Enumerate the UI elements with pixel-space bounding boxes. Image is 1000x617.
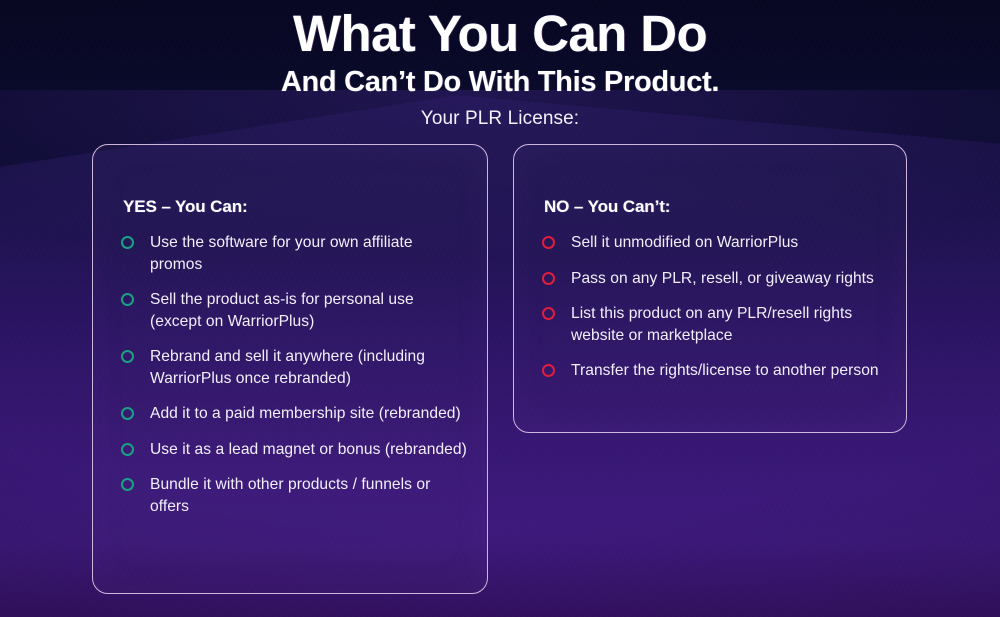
list-item-label: Add it to a paid membership site (rebran… — [150, 405, 461, 422]
list-item: Use it as a lead magnet or bonus (rebran… — [121, 439, 467, 461]
list-item-label: Pass on any PLR, resell, or giveaway rig… — [571, 270, 874, 287]
list-item-label: Sell the product as-is for personal use … — [150, 291, 414, 330]
card-yes-list: Use the software for your own affiliate … — [121, 232, 467, 517]
circle-outline-icon — [121, 293, 134, 306]
circle-outline-icon — [542, 307, 555, 320]
list-item: Sell it unmodified on WarriorPlus — [542, 232, 886, 254]
list-item: List this product on any PLR/resell righ… — [542, 303, 886, 346]
card-yes-title: YES – You Can: — [123, 196, 248, 218]
list-item: Bundle it with other products / funnels … — [121, 474, 467, 517]
list-item-label: Use the software for your own affiliate … — [150, 234, 413, 273]
circle-outline-icon — [121, 350, 134, 363]
list-item: Transfer the rights/license to another p… — [542, 360, 886, 382]
list-item: Sell the product as-is for personal use … — [121, 289, 467, 332]
page-title: What You Can Do — [0, 6, 1000, 62]
list-item: Pass on any PLR, resell, or giveaway rig… — [542, 268, 886, 290]
list-item-label: Transfer the rights/license to another p… — [571, 362, 879, 379]
license-label: Your PLR License: — [0, 106, 1000, 132]
circle-outline-icon — [121, 478, 134, 491]
page-content: What You Can Do And Can’t Do With This P… — [0, 0, 1000, 617]
circle-outline-icon — [542, 364, 555, 377]
card-no-you-cant: NO – You Can’t: Sell it unmodified on Wa… — [513, 144, 907, 433]
circle-outline-icon — [542, 236, 555, 249]
list-item-label: Use it as a lead magnet or bonus (rebran… — [150, 441, 467, 458]
page-subtitle: And Can’t Do With This Product. — [0, 64, 1000, 100]
list-item-label: List this product on any PLR/resell righ… — [571, 305, 852, 344]
list-item: Rebrand and sell it anywhere (including … — [121, 346, 467, 389]
list-item: Use the software for your own affiliate … — [121, 232, 467, 275]
card-no-title: NO – You Can’t: — [544, 196, 670, 218]
circle-outline-icon — [121, 407, 134, 420]
circle-outline-icon — [121, 443, 134, 456]
card-no-list: Sell it unmodified on WarriorPlusPass on… — [542, 232, 886, 382]
list-item-label: Sell it unmodified on WarriorPlus — [571, 234, 798, 251]
circle-outline-icon — [542, 272, 555, 285]
list-item-label: Rebrand and sell it anywhere (including … — [150, 348, 425, 387]
list-item: Add it to a paid membership site (rebran… — [121, 403, 467, 425]
circle-outline-icon — [121, 236, 134, 249]
card-yes-you-can: YES – You Can: Use the software for your… — [92, 144, 488, 594]
list-item-label: Bundle it with other products / funnels … — [150, 476, 430, 515]
